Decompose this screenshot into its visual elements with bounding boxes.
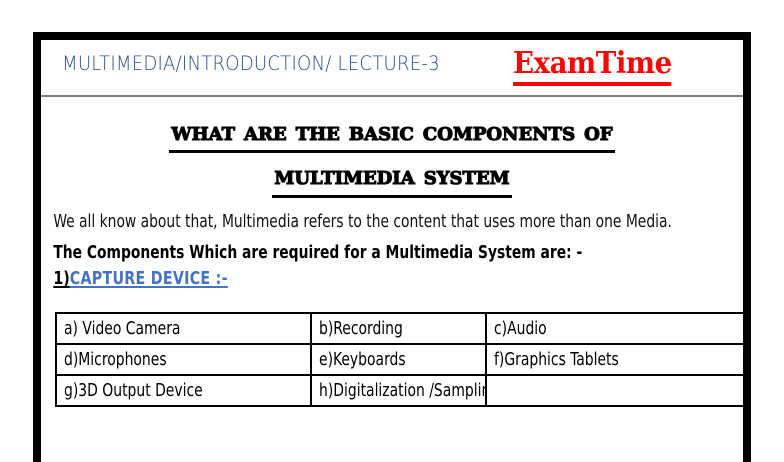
table-cell-text: c)Audio <box>494 318 547 339</box>
table-cell: f)Graphics Tablets <box>486 344 751 375</box>
examtime-logo: ExamTime <box>513 46 672 86</box>
table-cell <box>486 375 751 406</box>
slide-page: MULTIMEDIA/INTRODUCTION/ LECTURE-3 ExamT… <box>0 0 784 441</box>
components-table: a) Video Camera b)Recording c)Audio d)Mi… <box>55 312 751 407</box>
table-cell-text: d)Microphones <box>64 349 167 370</box>
table-row: a) Video Camera b)Recording c)Audio <box>56 313 751 344</box>
table-row: d)Microphones e)Keyboards f)Graphics Tab… <box>56 344 751 375</box>
section-number: 1) <box>53 268 69 289</box>
section-label: CAPTURE DEVICE :- <box>70 268 228 289</box>
components-table-wrap: a) Video Camera b)Recording c)Audio d)Mi… <box>55 312 729 407</box>
table-cell-text: h)Digitalization /Sampling Hardware <box>319 380 486 401</box>
table-cell-text: g)3D Output Device <box>64 380 203 401</box>
components-lead-line: The Components Which are required for a … <box>41 243 751 263</box>
table-cell: a) Video Camera <box>56 313 311 344</box>
table-cell-text: e)Keyboards <box>319 349 406 370</box>
page-title-line1-text: What are the basic components of <box>169 115 614 153</box>
table-cell-text: b)Recording <box>319 318 403 339</box>
components-table-body: a) Video Camera b)Recording c)Audio d)Mi… <box>56 313 751 406</box>
table-cell: b)Recording <box>311 313 486 344</box>
table-cell: e)Keyboards <box>311 344 486 375</box>
table-cell: g)3D Output Device <box>56 375 311 406</box>
table-cell: h)Digitalization /Sampling Hardware <box>311 375 486 406</box>
slide-body: What are the basic components of Multime… <box>41 115 743 407</box>
table-cell-text: a) Video Camera <box>64 318 180 339</box>
table-cell: c)Audio <box>486 313 751 344</box>
intro-paragraph: We all know about that, Multimedia refer… <box>41 210 751 235</box>
page-title-line2: Multimedia System <box>41 159 743 197</box>
table-row: g)3D Output Device h)Digitalization /Sam… <box>56 375 751 406</box>
table-cell-text: f)Graphics Tablets <box>494 349 619 370</box>
section-capture-device: 1)CAPTURE DEVICE :- <box>41 268 751 289</box>
slide-header: MULTIMEDIA/INTRODUCTION/ LECTURE-3 ExamT… <box>41 40 743 97</box>
page-title-line1: What are the basic components of <box>41 115 743 153</box>
breadcrumb: MULTIMEDIA/INTRODUCTION/ LECTURE-3 <box>62 52 440 75</box>
table-cell: d)Microphones <box>56 344 311 375</box>
content-frame: MULTIMEDIA/INTRODUCTION/ LECTURE-3 ExamT… <box>33 32 751 462</box>
page-title-line2-text: Multimedia System <box>272 159 511 197</box>
